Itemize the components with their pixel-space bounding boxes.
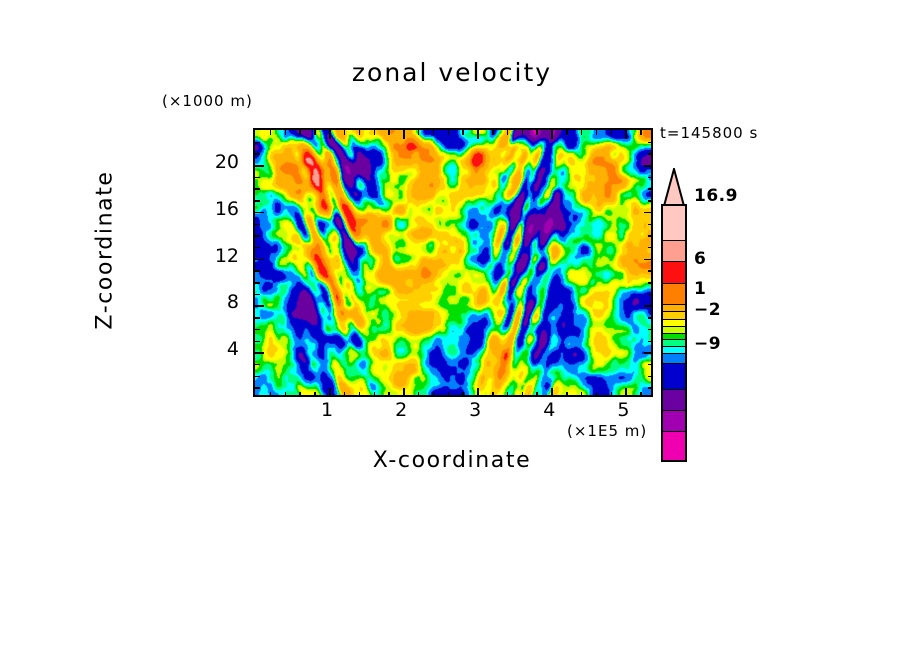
x-axis-tick bbox=[522, 130, 524, 135]
y-tick-label: 20 bbox=[199, 151, 239, 173]
x-axis-tick bbox=[344, 130, 346, 135]
x-axis-tick bbox=[581, 130, 583, 135]
x-axis-tick bbox=[374, 130, 376, 135]
x-axis-tick bbox=[611, 392, 613, 397]
page-title: zonal velocity bbox=[0, 58, 904, 87]
x-axis-tick bbox=[329, 388, 331, 397]
colorbar-band bbox=[663, 312, 685, 319]
colorbar-band bbox=[663, 305, 685, 312]
y-axis-tick bbox=[648, 387, 653, 389]
x-axis-tick bbox=[596, 130, 598, 135]
colorbar-band bbox=[663, 284, 685, 305]
x-axis-tick bbox=[507, 130, 509, 135]
y-axis-tick bbox=[648, 142, 653, 144]
x-axis-tick bbox=[640, 130, 642, 135]
x-axis-tick bbox=[492, 392, 494, 397]
y-axis-unit-label: (×1000 m) bbox=[162, 92, 253, 110]
y-axis-tick bbox=[648, 329, 653, 331]
y-axis-tick bbox=[644, 259, 653, 261]
colorbar-band bbox=[663, 364, 685, 391]
x-axis-tick bbox=[551, 130, 553, 139]
y-axis-title: Z-coordinate bbox=[93, 140, 118, 360]
x-axis-tick bbox=[581, 392, 583, 397]
y-axis-tick bbox=[648, 235, 653, 237]
y-axis-tick bbox=[648, 247, 653, 249]
y-axis-tick bbox=[255, 329, 260, 331]
y-axis-tick bbox=[255, 387, 260, 389]
y-tick-label: 8 bbox=[199, 291, 239, 313]
y-axis-tick bbox=[648, 188, 653, 190]
x-axis-tick bbox=[403, 130, 405, 139]
y-tick-label: 16 bbox=[199, 198, 239, 220]
y-axis-tick bbox=[648, 177, 653, 179]
x-tick-label: 5 bbox=[603, 399, 643, 421]
colorbar-band bbox=[663, 432, 685, 460]
x-axis-tick bbox=[374, 392, 376, 397]
y-axis-tick bbox=[255, 305, 264, 307]
y-axis-tick bbox=[648, 282, 653, 284]
x-axis-tick bbox=[625, 388, 627, 397]
colorbar-band bbox=[663, 327, 685, 334]
x-axis-tick bbox=[448, 130, 450, 135]
x-axis-tick bbox=[359, 130, 361, 135]
time-annotation: t=145800 s bbox=[660, 124, 758, 142]
x-axis-tick bbox=[477, 130, 479, 139]
y-axis-tick bbox=[255, 142, 260, 144]
x-axis-title: X-coordinate bbox=[0, 448, 904, 473]
y-axis-tick bbox=[648, 294, 653, 296]
x-tick-label: 2 bbox=[381, 399, 421, 421]
x-axis-tick bbox=[611, 130, 613, 135]
y-axis-tick bbox=[255, 200, 260, 202]
x-axis-tick bbox=[270, 392, 272, 397]
x-axis-tick bbox=[596, 392, 598, 397]
y-axis-tick bbox=[648, 317, 653, 319]
x-axis-tick bbox=[462, 130, 464, 135]
y-axis-tick bbox=[255, 317, 260, 319]
x-axis-tick bbox=[285, 392, 287, 397]
y-axis-tick bbox=[648, 364, 653, 366]
colorbar-tick-label: 1 bbox=[694, 279, 706, 299]
y-axis-tick bbox=[644, 165, 653, 167]
colorbar-band bbox=[663, 347, 685, 354]
y-axis-tick bbox=[255, 364, 260, 366]
x-axis-tick bbox=[640, 392, 642, 397]
colorbar-tick-label: −2 bbox=[694, 300, 721, 320]
x-tick-label: 1 bbox=[307, 399, 347, 421]
y-tick-label: 12 bbox=[199, 245, 239, 267]
x-axis-tick bbox=[462, 392, 464, 397]
colorbar-band bbox=[663, 354, 685, 364]
y-axis-tick bbox=[255, 294, 260, 296]
colorbar-arrow-icon bbox=[660, 168, 688, 206]
colorbar-band bbox=[663, 340, 685, 347]
x-axis-tick bbox=[507, 392, 509, 397]
x-axis-tick bbox=[299, 130, 301, 135]
y-axis-tick bbox=[644, 305, 653, 307]
colorbar-bands bbox=[661, 204, 687, 462]
x-tick-label: 4 bbox=[529, 399, 569, 421]
x-axis-tick bbox=[433, 130, 435, 135]
x-axis-tick bbox=[285, 130, 287, 135]
y-axis-tick bbox=[255, 247, 260, 249]
contour-plot-area bbox=[253, 128, 653, 397]
x-axis-tick bbox=[625, 130, 627, 139]
y-axis-tick bbox=[255, 212, 264, 214]
y-axis-tick bbox=[255, 270, 260, 272]
x-tick-label: 3 bbox=[455, 399, 495, 421]
x-axis-tick bbox=[536, 130, 538, 135]
x-axis-tick bbox=[299, 392, 301, 397]
y-axis-tick bbox=[644, 352, 653, 354]
colorbar-band bbox=[663, 320, 685, 327]
x-axis-tick bbox=[314, 392, 316, 397]
y-axis-tick bbox=[648, 270, 653, 272]
colorbar-band bbox=[663, 390, 685, 411]
y-axis-tick bbox=[255, 282, 260, 284]
y-axis-tick bbox=[255, 235, 260, 237]
colorbar-band bbox=[663, 241, 685, 262]
colorbar-band bbox=[663, 334, 685, 341]
x-axis-tick bbox=[329, 130, 331, 139]
x-axis-tick bbox=[433, 392, 435, 397]
x-axis-tick bbox=[566, 130, 568, 135]
y-axis-tick bbox=[648, 376, 653, 378]
x-axis-unit-label: (×1E5 m) bbox=[567, 422, 647, 440]
y-axis-tick bbox=[648, 153, 653, 155]
x-axis-tick bbox=[270, 130, 272, 135]
x-axis-tick bbox=[359, 392, 361, 397]
colorbar-tick-label: 16.9 bbox=[694, 186, 738, 206]
x-axis-tick bbox=[388, 130, 390, 135]
x-axis-tick bbox=[492, 130, 494, 135]
colorbar-tick-label: 6 bbox=[694, 249, 706, 269]
y-axis-tick bbox=[255, 376, 260, 378]
x-axis-tick bbox=[477, 388, 479, 397]
y-axis-tick bbox=[648, 224, 653, 226]
x-axis-tick bbox=[388, 392, 390, 397]
x-axis-tick bbox=[522, 392, 524, 397]
x-axis-tick bbox=[448, 392, 450, 397]
colorbar-tick-label: −9 bbox=[694, 334, 721, 354]
x-axis-tick bbox=[418, 130, 420, 135]
y-tick-label: 4 bbox=[199, 338, 239, 360]
x-axis-tick bbox=[314, 130, 316, 135]
y-axis-tick bbox=[648, 200, 653, 202]
y-axis-tick bbox=[255, 153, 260, 155]
x-axis-tick bbox=[403, 388, 405, 397]
y-axis-tick bbox=[255, 259, 264, 261]
x-axis-tick bbox=[551, 388, 553, 397]
y-axis-tick bbox=[648, 341, 653, 343]
y-axis-tick bbox=[255, 188, 260, 190]
x-axis-tick bbox=[566, 392, 568, 397]
y-axis-tick bbox=[255, 341, 260, 343]
colorbar-band bbox=[663, 411, 685, 432]
colorbar-band bbox=[663, 206, 685, 241]
y-axis-tick bbox=[255, 352, 264, 354]
velocity-field-canvas bbox=[255, 130, 651, 395]
y-axis-tick bbox=[644, 212, 653, 214]
y-axis-tick bbox=[255, 224, 260, 226]
y-axis-tick bbox=[255, 177, 260, 179]
colorbar-band bbox=[663, 262, 685, 283]
y-axis-tick bbox=[255, 165, 264, 167]
x-axis-tick bbox=[536, 392, 538, 397]
x-axis-tick bbox=[344, 392, 346, 397]
x-axis-tick bbox=[418, 392, 420, 397]
